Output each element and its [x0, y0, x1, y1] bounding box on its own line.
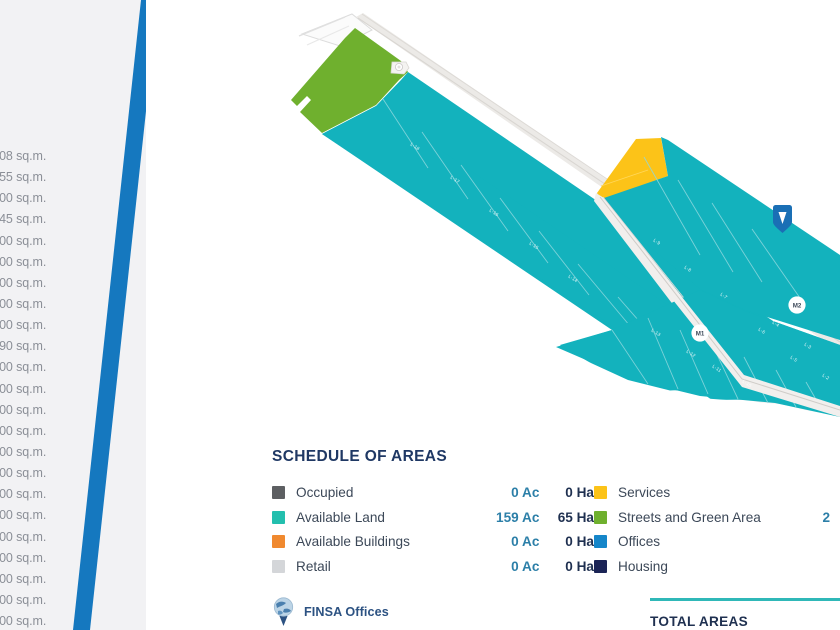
legend-column-left: Occupied0 Ac0 HaAvailable Land159 Ac65 H…: [272, 480, 594, 579]
legend-row[interactable]: Streets and Green Area2: [594, 505, 840, 530]
totals-divider-rule: [650, 598, 840, 601]
area-value-row: 0,200 sq.m.: [0, 527, 78, 548]
legend-row[interactable]: Services: [594, 480, 840, 505]
legend-hectares-value: 65 Ha: [539, 510, 594, 525]
area-value-row: 7,900 sq.m.: [0, 484, 78, 505]
area-value-row: 1,400 sq.m.: [0, 315, 78, 336]
schedule-of-areas-panel: SCHEDULE OF AREAS Occupied0 Ac0 HaAvaila…: [272, 448, 840, 627]
legend-row[interactable]: Retail0 Ac0 Ha: [272, 554, 594, 579]
legend-label: Streets and Green Area: [618, 510, 768, 525]
legend-row[interactable]: Available Buildings0 Ac0 Ha: [272, 530, 594, 555]
streets-green-swatch: [594, 511, 607, 524]
area-value-row: 8,300 sq.m.: [0, 463, 78, 484]
legend-column-right: ServicesStreets and Green Area2OfficesHo…: [594, 480, 840, 579]
housing-swatch: [594, 560, 607, 573]
area-value-row: 0,100 sq.m.: [0, 231, 78, 252]
legend-label: Occupied: [296, 485, 481, 500]
legend-row[interactable]: Available Land159 Ac65 Ha: [272, 505, 594, 530]
finsa-globe-pin-icon: [272, 597, 295, 627]
legend-hectares-value: 0 Ha: [539, 559, 594, 574]
area-value-row: 9,200 sq.m.: [0, 379, 78, 400]
area-value-row: 8,900 sq.m.: [0, 421, 78, 442]
area-value-row: 8,800 sq.m.: [0, 442, 78, 463]
total-areas-label: TOTAL AREAS: [650, 614, 800, 629]
legend-label: Offices: [618, 534, 768, 549]
legend-row[interactable]: Housing: [594, 554, 840, 579]
block-marker-label: M2: [793, 302, 802, 309]
available-land-swatch: [272, 511, 285, 524]
block-marker[interactable]: M2: [788, 296, 805, 313]
area-value-row: 9,845 sq.m.: [0, 209, 78, 230]
block-marker-label: M1: [696, 330, 705, 337]
area-value-row: 0,700 sq.m.: [0, 548, 78, 569]
occupied-swatch: [272, 486, 285, 499]
total-areas-block: TOTAL AREAS 19: [650, 598, 840, 629]
area-value-row: 1,200 sq.m.: [0, 569, 78, 590]
area-value-row: 7,500 sq.m.: [0, 505, 78, 526]
legend-hectares-value: 0 Ha: [539, 485, 594, 500]
sidebar-panel: 3,808 sq.m.9,155 sq.m.9,500 sq.m.9,845 s…: [0, 0, 146, 630]
legend-grid: Occupied0 Ac0 HaAvailable Land159 Ac65 H…: [272, 480, 840, 579]
services-swatch: [594, 486, 607, 499]
area-value-row: 9,200 sq.m.: [0, 611, 78, 630]
legend-label: Retail: [296, 559, 481, 574]
site-plan-viewer: 3,808 sq.m.9,155 sq.m.9,500 sq.m.9,845 s…: [0, 0, 840, 630]
legend-acres-value: 2: [768, 510, 830, 525]
legend-label: Housing: [618, 559, 768, 574]
area-value-row: 9,500 sq.m.: [0, 188, 78, 209]
sidebar-clipped-area: 3,808 sq.m.9,155 sq.m.9,500 sq.m.9,845 s…: [0, 0, 146, 630]
page-title: SCHEDULE OF AREAS: [272, 448, 840, 466]
total-areas-row: TOTAL AREAS 19: [650, 614, 840, 629]
legend-row[interactable]: Occupied0 Ac0 Ha: [272, 480, 594, 505]
area-value-row: 9,000 sq.m.: [0, 400, 78, 421]
legend-label: Services: [618, 485, 768, 500]
area-value-row: 1,000 sq.m.: [0, 294, 78, 315]
total-areas-acres-value: 19: [800, 614, 840, 629]
legend-acres-value: 159 Ac: [481, 510, 539, 525]
offices-swatch: [594, 535, 607, 548]
legend-acres-value: 0 Ac: [481, 534, 539, 549]
finsa-offices-label: FINSA Offices: [304, 605, 389, 619]
legend-hectares-value: 0 Ha: [539, 534, 594, 549]
block-marker[interactable]: M1: [691, 324, 708, 341]
legend-row[interactable]: Offices: [594, 530, 840, 555]
area-value-row: 0,500 sq.m.: [0, 252, 78, 273]
legend-acres-value: 0 Ac: [481, 485, 539, 500]
area-value-row: 1,390 sq.m.: [0, 336, 78, 357]
legend-label: Available Land: [296, 510, 481, 525]
area-value-row: 9,155 sq.m.: [0, 167, 78, 188]
retail-swatch: [272, 560, 285, 573]
area-value-row: 3,808 sq.m.: [0, 146, 78, 167]
legend-acres-value: 0 Ac: [481, 559, 539, 574]
area-value-row: 2,000 sq.m.: [0, 590, 78, 611]
available-buildings-swatch: [272, 535, 285, 548]
area-values-list: 3,808 sq.m.9,155 sq.m.9,500 sq.m.9,845 s…: [0, 146, 78, 630]
legend-label: Available Buildings: [296, 534, 481, 549]
area-value-row: 0,800 sq.m.: [0, 273, 78, 294]
area-value-row: 8,100 sq.m.: [0, 357, 78, 378]
